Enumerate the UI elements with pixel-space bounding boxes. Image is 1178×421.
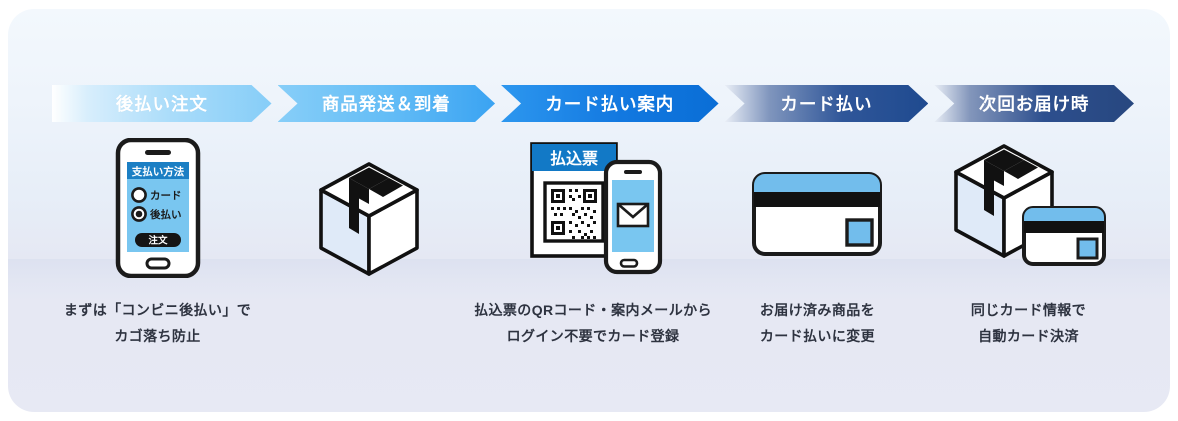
step-3-label: カード払い案内 bbox=[545, 91, 674, 116]
column-next-delivery: 同じカード情報で 自動カード決済 bbox=[923, 133, 1134, 363]
step-banner: 後払い注文 商品発送＆到着 カード払い案内 カード払い 次回お届け時 bbox=[52, 85, 1134, 122]
smartphone-payment-selection-icon: 支払い方法 カード 後払い 注文 bbox=[106, 138, 210, 278]
svg-text:支払い方法: 支払い方法 bbox=[130, 165, 184, 178]
art-2 bbox=[263, 133, 474, 278]
column-deferred-order: 支払い方法 カード 後払い 注文 まずは「コンビニ後払い」で カゴ落ち防止 bbox=[52, 133, 263, 363]
caption-4-line-1: お届け済み商品を bbox=[760, 298, 875, 324]
step-1-deferred-order: 後払い注文 bbox=[52, 85, 272, 122]
column-shipping-arrival bbox=[263, 133, 474, 363]
step-5-next-delivery: 次回お届け時 bbox=[934, 85, 1134, 122]
step-3-card-payment-guide: カード払い案内 bbox=[501, 85, 719, 122]
step-1-label: 後払い注文 bbox=[116, 91, 208, 116]
caption-1-line-1: まずは「コンビニ後払い」で bbox=[64, 298, 251, 324]
caption-5: 同じカード情報で 自動カード決済 bbox=[971, 298, 1086, 350]
column-card-payment-guide: 払込票 bbox=[474, 133, 712, 363]
payment-flow-infographic: 後払い注文 商品発送＆到着 カード払い案内 カード払い 次回お届け時 bbox=[8, 9, 1170, 412]
credit-card-icon bbox=[750, 162, 884, 260]
illustration-columns: 支払い方法 カード 後払い 注文 まずは「コンビニ後払い」で カゴ落ち防止 bbox=[52, 133, 1134, 363]
caption-4-line-2: カード払いに変更 bbox=[760, 324, 875, 350]
caption-3: 払込票のQRコード・案内メールから ログイン不要でカード登録 bbox=[474, 298, 712, 350]
caption-3-line-1: 払込票のQRコード・案内メールから bbox=[474, 298, 712, 324]
box-with-credit-card-icon bbox=[950, 136, 1106, 278]
svg-text:注文: 注文 bbox=[148, 235, 168, 247]
step-2-label: 商品発送＆到着 bbox=[322, 91, 451, 116]
caption-4: お届け済み商品を カード払いに変更 bbox=[760, 298, 875, 350]
step-5-label: 次回お届け時 bbox=[979, 91, 1089, 116]
column-card-payment: お届け済み商品を カード払いに変更 bbox=[712, 133, 923, 363]
payment-slip-qr-and-email-phone-icon: 払込票 bbox=[518, 136, 668, 278]
caption-5-line-1: 同じカード情報で bbox=[971, 298, 1086, 324]
svg-text:カード: カード bbox=[150, 190, 182, 202]
svg-text:後払い: 後払い bbox=[149, 208, 182, 221]
step-4-label: カード払い bbox=[780, 91, 872, 116]
art-3: 払込票 bbox=[474, 133, 712, 278]
step-4-card-payment: カード払い bbox=[725, 85, 929, 122]
shipping-box-icon bbox=[311, 152, 427, 278]
art-4 bbox=[712, 133, 923, 278]
art-1: 支払い方法 カード 後払い 注文 bbox=[52, 133, 263, 278]
caption-5-line-2: 自動カード決済 bbox=[971, 324, 1086, 350]
caption-1: まずは「コンビニ後払い」で カゴ落ち防止 bbox=[64, 298, 251, 350]
svg-text:払込票: 払込票 bbox=[550, 149, 598, 168]
step-2-shipping-arrival: 商品発送＆到着 bbox=[278, 85, 496, 122]
caption-1-line-2: カゴ落ち防止 bbox=[64, 324, 251, 350]
caption-3-line-2: ログイン不要でカード登録 bbox=[474, 324, 712, 350]
art-5 bbox=[923, 133, 1134, 278]
